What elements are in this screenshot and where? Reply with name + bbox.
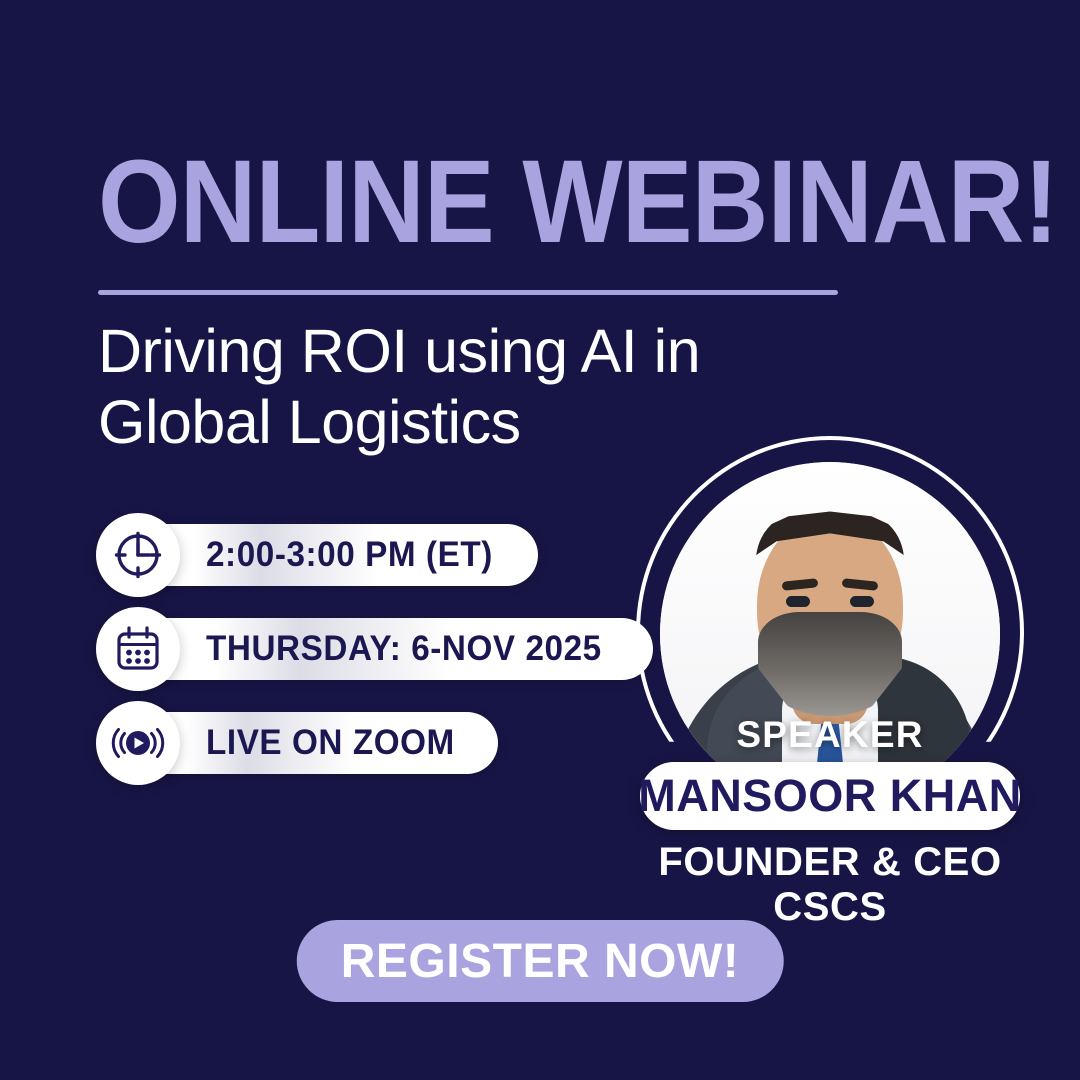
- page-title: ONLINE WEBINAR!: [98, 148, 1058, 257]
- speaker-kicker: SPEAKER: [632, 714, 1028, 756]
- speaker-name-pill: MANSOOR KHAN: [640, 762, 1020, 830]
- live-broadcast-icon: [96, 701, 180, 785]
- detail-label-platform: LIVE ON ZOOM: [206, 723, 455, 763]
- detail-pill-platform: LIVE ON ZOOM: [118, 712, 498, 774]
- speaker-block: SPEAKER MANSOOR KHAN FOUNDER & CEO CSCS: [632, 436, 1028, 856]
- speaker-role: FOUNDER & CEO CSCS: [632, 840, 1028, 930]
- calendar-icon: [96, 607, 180, 691]
- title-divider: [98, 290, 838, 295]
- register-now-label: REGISTER NOW!: [341, 934, 740, 989]
- clock-icon: [96, 513, 180, 597]
- webinar-poster: ONLINE WEBINAR! Driving ROI using AI in …: [0, 0, 1080, 1080]
- detail-pill-time: 2:00-3:00 PM (ET): [118, 524, 538, 586]
- detail-label-time: 2:00-3:00 PM (ET): [206, 535, 493, 575]
- event-details-list: 2:00-3:00 PM (ET) THURSDAY: 6-NOV 2025: [96, 524, 653, 774]
- speaker-name: MANSOOR KHAN: [638, 770, 1022, 822]
- detail-label-date: THURSDAY: 6-NOV 2025: [206, 629, 602, 669]
- register-now-button[interactable]: REGISTER NOW!: [297, 920, 784, 1002]
- subtitle-line-1: Driving ROI using AI in: [98, 316, 818, 387]
- detail-pill-date: THURSDAY: 6-NOV 2025: [118, 618, 653, 680]
